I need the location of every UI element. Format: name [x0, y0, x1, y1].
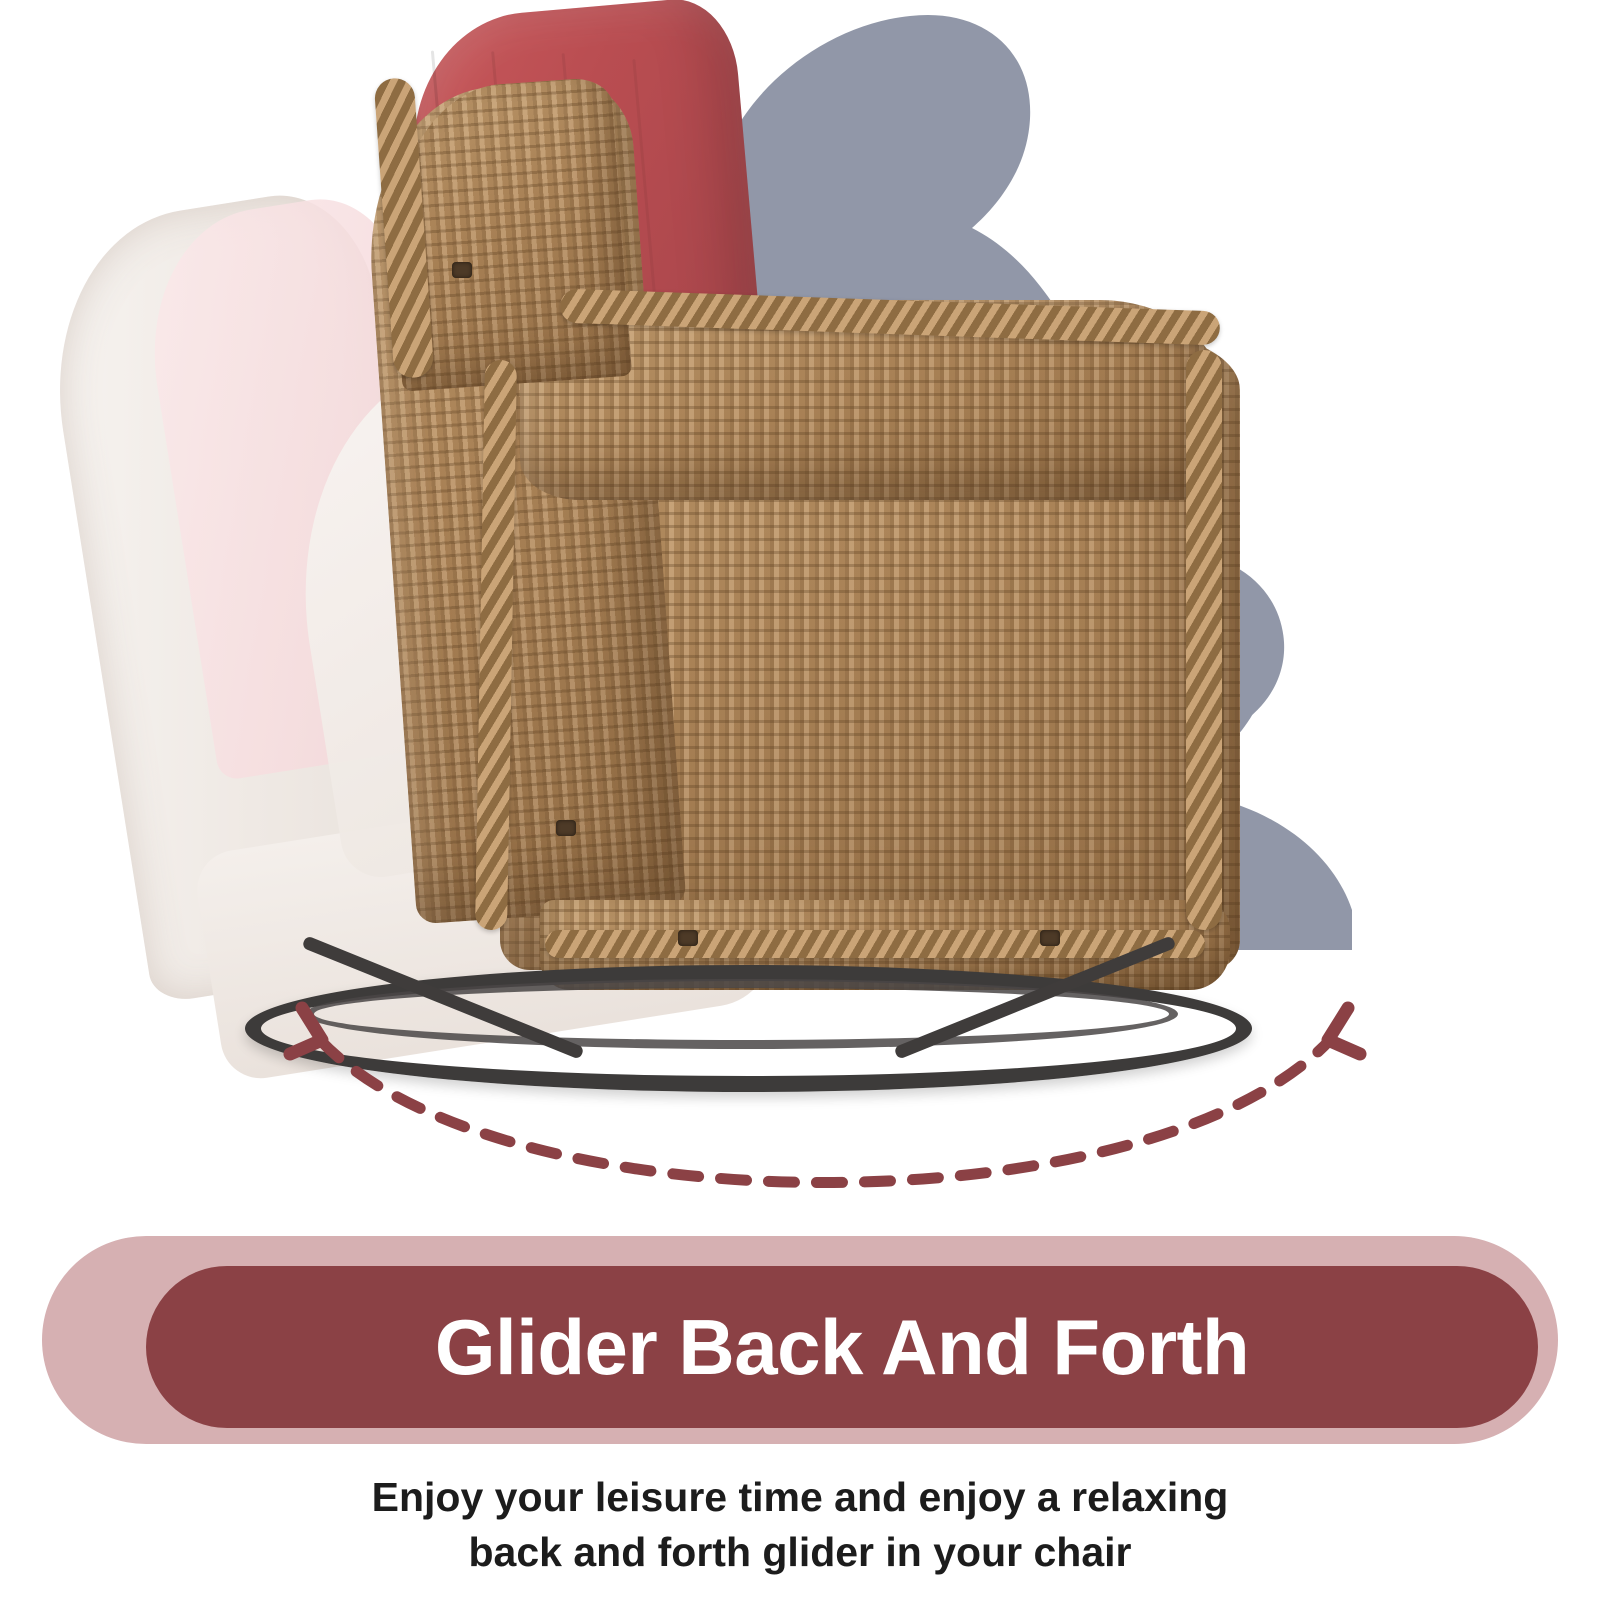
chair-rivet-base-left: [678, 930, 698, 946]
caption-area: Glider Back And Forth Enjoy your leisure…: [0, 1228, 1600, 1600]
caption-band-outer: Glider Back And Forth: [42, 1236, 1558, 1444]
caption-subtitle-line-1: Enjoy your leisure time and enjoy a rela…: [0, 1470, 1600, 1525]
chair-rivet-base-right: [1040, 930, 1060, 946]
caption-title: Glider Back And Forth: [435, 1308, 1249, 1386]
chair-braid-front-edge: [1186, 350, 1222, 930]
product-photo-area: [0, 0, 1600, 1230]
chair-rivet-lower: [556, 820, 576, 836]
caption-subtitle-line-2: back and forth glider in your chair: [0, 1525, 1600, 1580]
chair-rivet-upper: [452, 262, 472, 278]
caption-band-inner: Glider Back And Forth: [146, 1266, 1538, 1428]
back-and-forth-arc-arrow: [260, 1000, 1390, 1200]
chair-braid-bottom-edge: [545, 930, 1205, 958]
caption-subtitle: Enjoy your leisure time and enjoy a rela…: [0, 1470, 1600, 1581]
